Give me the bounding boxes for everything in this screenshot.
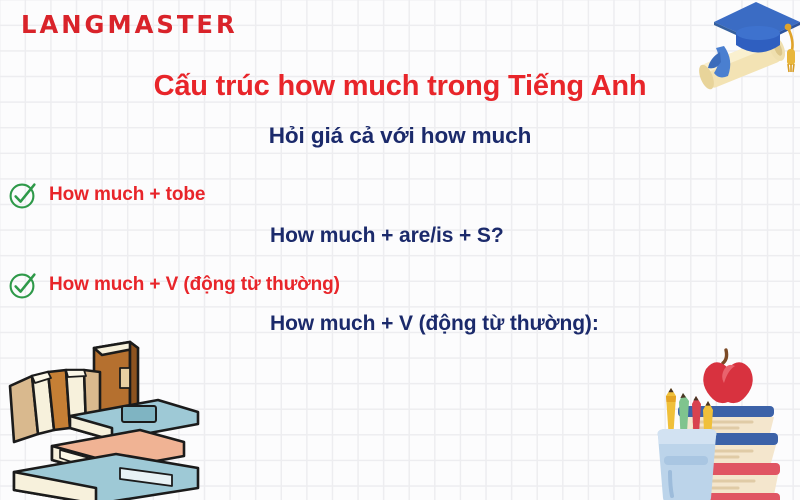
apple-books-pencils-icon — [650, 344, 782, 500]
page-subtitle: Hỏi giá cả với how much — [0, 121, 800, 151]
formula-are-is: How much + are/is + S? — [270, 222, 504, 249]
slide-canvas: LANGMASTER — [0, 0, 800, 500]
langmaster-logo: LANGMASTER — [21, 10, 238, 40]
rule-text-verb: How much + V (động từ thường) — [49, 273, 340, 297]
rule-text-tobe: How much + tobe — [49, 183, 205, 207]
green-check-circle-icon — [8, 180, 38, 210]
rule-row-verb: How much + V (động từ thường) — [8, 270, 340, 300]
book-stack-icon — [8, 338, 204, 500]
page-title: Cấu trúc how much trong Tiếng Anh — [0, 68, 800, 104]
formula-verb: How much + V (động từ thường): — [270, 310, 599, 337]
rule-row-tobe: How much + tobe — [8, 180, 205, 210]
green-check-circle-icon — [8, 270, 38, 300]
